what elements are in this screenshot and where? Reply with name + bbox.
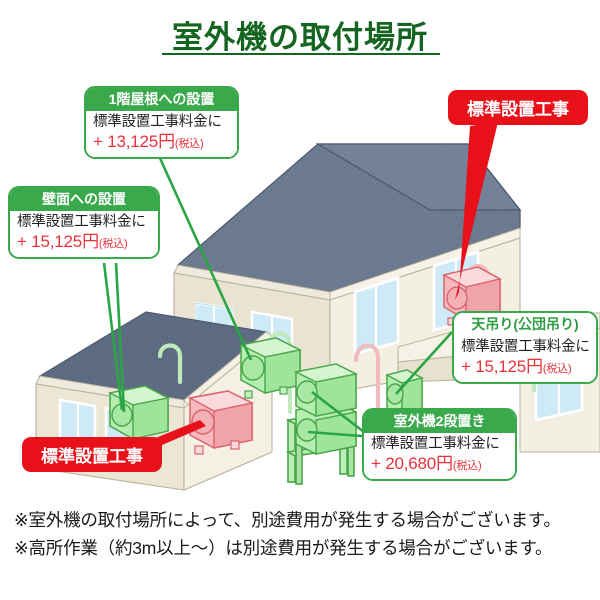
price-prefix: + bbox=[371, 454, 381, 473]
price-value: 20,680 bbox=[385, 454, 436, 473]
price-value: 13,125 bbox=[107, 132, 158, 151]
infographic-canvas: 室外機の取付場所 bbox=[0, 0, 600, 600]
price-currency: 円 bbox=[82, 232, 99, 251]
price-value: 15,125 bbox=[31, 232, 82, 251]
badge-standard-install-top[interactable]: 標準設置工事 bbox=[448, 90, 588, 125]
price-prefix: + bbox=[17, 232, 27, 251]
price-tax-note: (税込) bbox=[175, 138, 204, 150]
page-title: 室外機の取付場所 bbox=[0, 12, 600, 57]
callout-roof-body: 標準設置工事料金に + 13,125円(税込) bbox=[86, 111, 237, 157]
price-value: 15,125 bbox=[475, 357, 526, 376]
callout-stacked[interactable]: 室外機2段置き 標準設置工事料金に + 20,680円(税込) bbox=[362, 408, 517, 481]
callout-roof-price: + 13,125円(税込) bbox=[93, 132, 230, 152]
badge-standard-install-bottom[interactable]: 標準設置工事 bbox=[22, 437, 162, 472]
price-prefix: + bbox=[461, 357, 471, 376]
callout-stacked-body: 標準設置工事料金に + 20,680円(税込) bbox=[364, 433, 515, 479]
callout-roof[interactable]: 1階屋根への設置 標準設置工事料金に + 13,125円(税込) bbox=[84, 86, 239, 159]
footer-notes: ※室外機の取付場所によって、別途費用が発生する場合がございます。 ※高所作業（約… bbox=[14, 506, 594, 563]
price-currency: 円 bbox=[526, 357, 543, 376]
price-currency: 円 bbox=[158, 132, 175, 151]
callout-ceiling-header: 天吊り(公団吊り) bbox=[454, 313, 596, 336]
callout-ceiling-price: + 15,125円(税込) bbox=[461, 357, 589, 377]
callout-wall-body: 標準設置工事料金に + 15,125円(税込) bbox=[10, 211, 158, 257]
callout-stacked-header: 室外機2段置き bbox=[364, 410, 515, 433]
footer-note-1: ※室外機の取付場所によって、別途費用が発生する場合がございます。 bbox=[14, 506, 594, 534]
callout-roof-line1: 標準設置工事料金に bbox=[93, 114, 230, 131]
callout-wall-header: 壁面への設置 bbox=[10, 188, 158, 211]
price-tax-note: (税込) bbox=[453, 460, 482, 472]
callout-ceiling[interactable]: 天吊り(公団吊り) 標準設置工事料金に + 15,125円(税込) bbox=[452, 311, 598, 384]
callout-wall-line1: 標準設置工事料金に bbox=[17, 214, 151, 231]
price-tax-note: (税込) bbox=[99, 238, 128, 250]
callout-roof-header: 1階屋根への設置 bbox=[86, 88, 237, 111]
wall-unit bbox=[110, 386, 168, 439]
callout-ceiling-body: 標準設置工事料金に + 15,125円(税込) bbox=[454, 336, 596, 382]
footer-note-2: ※高所作業（約3m以上～）は別途費用が発生する場合がございます。 bbox=[14, 534, 594, 562]
callout-stacked-price: + 20,680円(税込) bbox=[371, 454, 508, 474]
callout-ceiling-line1: 標準設置工事料金に bbox=[461, 339, 589, 356]
price-prefix: + bbox=[93, 132, 103, 151]
callout-wall-price: + 15,125円(税込) bbox=[17, 232, 151, 252]
title-underline bbox=[162, 53, 440, 55]
callout-stacked-line1: 標準設置工事料金に bbox=[371, 436, 508, 453]
callout-wall[interactable]: 壁面への設置 標準設置工事料金に + 15,125円(税込) bbox=[8, 186, 160, 259]
price-tax-note: (税込) bbox=[543, 363, 572, 375]
price-currency: 円 bbox=[436, 454, 453, 473]
